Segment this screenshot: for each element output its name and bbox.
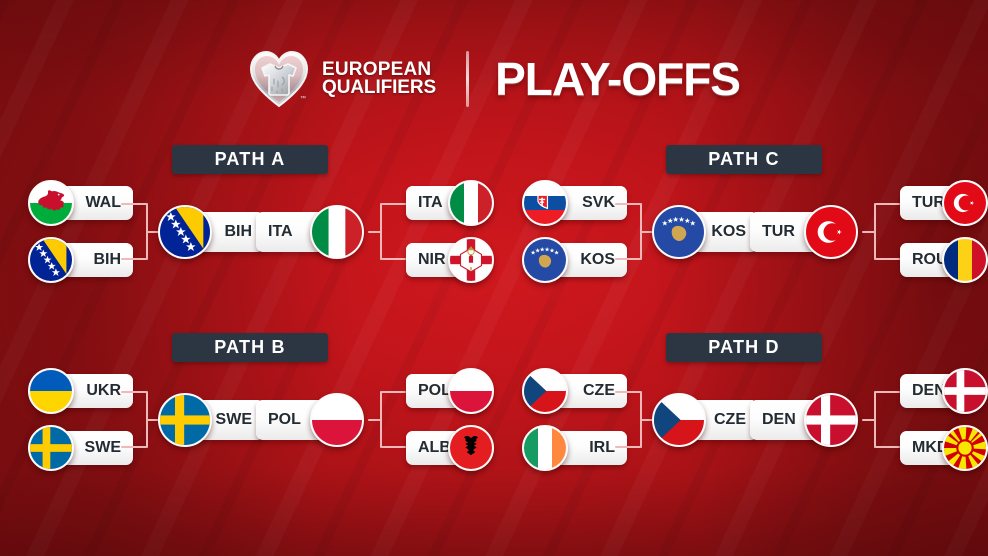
path-b-final-right-POL-label: POL: [268, 411, 301, 429]
path-c-flag-KOS-sf-left-1: [522, 237, 568, 283]
path-a-flag-NIR-sf-right-1: [448, 237, 494, 283]
path-b-flag-POL-final-right: [310, 393, 364, 447]
path-a-flag-ITA-sf-right-0: [448, 180, 494, 226]
path-c-semifinal-left-KOS-label: KOS: [580, 251, 615, 269]
path-a-final-left-BIH-label: BIH: [224, 223, 252, 241]
path-d-final-left-CZE-label: CZE: [714, 411, 746, 429]
playoff-bracket-graphic: ™ EUROPEAN QUALIFIERS PLAY-OFFS PATH AWA…: [0, 0, 988, 556]
european-qualifiers-logo: ™: [248, 48, 310, 110]
path-c-final-left-KOS-label: KOS: [711, 223, 746, 241]
path-a-semifinal-left-WAL-label: WAL: [85, 194, 121, 212]
path-c-flag-TUR-sf-right-0: [942, 180, 988, 226]
path-b-title: PATH B: [172, 333, 328, 362]
path-c-flag-KOS-final-left: [652, 205, 706, 259]
header-divider: [466, 51, 469, 107]
path-b-connector-left: [121, 391, 159, 448]
path-d-connector-left: [615, 391, 653, 448]
path-a-title: PATH A: [172, 145, 328, 174]
brand-line-2: QUALIFIERS: [322, 79, 436, 97]
path-b-flag-UKR-sf-left-0: [28, 368, 74, 414]
path-a-final-right-ITA-label: ITA: [268, 223, 293, 241]
page-title: PLAY-OFFS: [495, 52, 740, 106]
path-a-flag-WAL-sf-left-0: [28, 180, 74, 226]
path-b-final-left-SWE-label: SWE: [216, 411, 252, 429]
path-a-flag-ITA-final-right: [310, 205, 364, 259]
path-c-flag-SVK-sf-left-0: [522, 180, 568, 226]
path-b-flag-ALB-sf-right-1: [448, 425, 494, 471]
path-d-connector-right: [862, 391, 900, 448]
path-c-connector-left: [615, 203, 653, 260]
path-d-flag-DEN-sf-right-0: [942, 368, 988, 414]
brand-lockup: ™ EUROPEAN QUALIFIERS: [248, 48, 436, 110]
path-a: PATH AWAL BIH BIH ITAITANIR: [0, 140, 494, 328]
brand-text: EUROPEAN QUALIFIERS: [322, 61, 436, 97]
path-d-flag-CZE-sf-left-0: [522, 368, 568, 414]
path-d-semifinal-left-CZE-label: CZE: [583, 382, 615, 400]
path-c-flag-ROU-sf-right-1: [942, 237, 988, 283]
path-b-semifinal-left-UKR-label: UKR: [86, 382, 121, 400]
path-c-title: PATH C: [666, 145, 822, 174]
path-a-connector-right: [368, 203, 406, 260]
path-b: PATH BUKRSWE SWE POLPOLALB: [0, 328, 494, 516]
path-c-final-right-TUR-label: TUR: [762, 223, 795, 241]
path-a-connector-left: [121, 203, 159, 260]
path-a-semifinal-right-NIR-label: NIR: [418, 251, 446, 269]
path-d-flag-IRL-sf-left-1: [522, 425, 568, 471]
path-a-flag-BIH-final-left: [158, 205, 212, 259]
path-c-semifinal-right-TUR-label: TUR: [912, 194, 945, 212]
path-a-semifinal-left-BIH-label: BIH: [93, 251, 121, 269]
path-b-connector-right: [368, 391, 406, 448]
path-c: PATH CSVK KOS KOS TUR TUR ROU: [494, 140, 988, 328]
path-d-flag-CZE-final-left: [652, 393, 706, 447]
path-d-flag-DEN-final-right: [804, 393, 858, 447]
path-b-flag-POL-sf-right-0: [448, 368, 494, 414]
path-d: PATH DCZE IRLCZE DEN DEN MKD: [494, 328, 988, 516]
path-c-connector-right: [862, 203, 900, 260]
path-b-semifinal-left-SWE-label: SWE: [85, 439, 121, 457]
path-b-flag-SWE-sf-left-1: [28, 425, 74, 471]
path-d-final-right-DEN-label: DEN: [762, 411, 796, 429]
path-a-semifinal-right-ITA-label: ITA: [418, 194, 443, 212]
path-b-semifinal-right-POL-label: POL: [418, 382, 451, 400]
path-d-flag-MKD-sf-right-1: [942, 425, 988, 471]
header: ™ EUROPEAN QUALIFIERS PLAY-OFFS: [0, 40, 988, 118]
svg-text:™: ™: [300, 95, 306, 102]
path-d-semifinal-left-IRL-label: IRL: [589, 439, 615, 457]
path-b-semifinal-right-ALB-label: ALB: [418, 439, 451, 457]
path-c-flag-TUR-final-right: [804, 205, 858, 259]
path-c-semifinal-left-SVK-label: SVK: [582, 194, 615, 212]
path-d-title: PATH D: [666, 333, 822, 362]
path-a-flag-BIH-sf-left-1: [28, 237, 74, 283]
path-d-semifinal-right-DEN-label: DEN: [912, 382, 946, 400]
path-b-flag-SWE-final-left: [158, 393, 212, 447]
